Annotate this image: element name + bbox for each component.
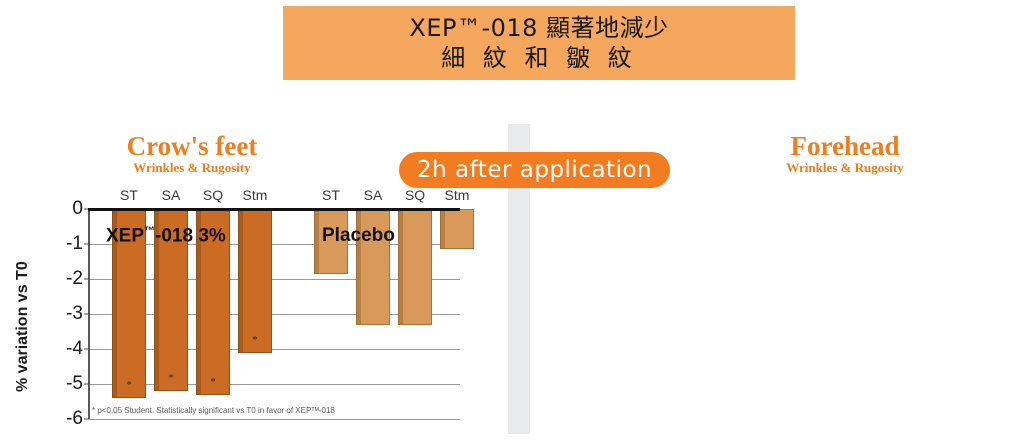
chart-subtitle: Wrinkles & Rugosity — [0, 160, 446, 176]
group-label-stm: Stm — [243, 187, 268, 203]
significance-marker: * — [168, 374, 174, 383]
plot-area-crows-feet: 0-1-2-3-4-5-6*ST*SA*SQ*StmSTSASQStmXEP™-… — [88, 209, 460, 419]
series-caption-placebo: Placebo — [322, 225, 395, 247]
bar-body — [238, 209, 272, 353]
zero-axis-line — [88, 208, 460, 211]
title-line-1: XEP™-018 顯著地減少 — [409, 13, 668, 43]
series-caption-xep: XEP™-018 3% — [106, 225, 226, 247]
bar-crows-feet-placebo-sq — [398, 209, 432, 325]
y-tick-mark — [84, 314, 90, 315]
y-tick-label: -4 — [66, 338, 83, 360]
y-tick-label: -2 — [66, 268, 83, 290]
y-tick-mark — [84, 419, 90, 420]
y-tick-label: 0 — [72, 198, 83, 220]
significance-marker: * — [210, 378, 216, 387]
y-axis-label-crows-feet: % variation vs T0 — [14, 261, 32, 392]
y-tick-mark — [84, 279, 90, 280]
y-tick-label: -5 — [66, 373, 83, 395]
bar-crows-feet-xep-stm: * — [238, 209, 272, 353]
bar-shadow-edge — [440, 209, 445, 249]
bar-shadow-edge — [238, 209, 243, 353]
bar-shadow-edge — [398, 209, 403, 325]
group-label-sa: SA — [162, 187, 181, 203]
bar-body — [440, 209, 474, 249]
significance-marker: * — [126, 381, 132, 390]
chart-heading-crows-feet: Crow's feet Wrinkles & Rugosity — [0, 132, 446, 176]
title-line-2: 細 紋 和 皺 紋 — [441, 43, 637, 73]
y-tick-label: -1 — [66, 233, 83, 255]
group-label-sq: SQ — [405, 187, 425, 203]
chart-region-title: Crow's feet — [0, 132, 446, 160]
y-tick-mark — [84, 244, 90, 245]
gridline — [90, 419, 460, 420]
y-tick-mark — [84, 384, 90, 385]
significance-marker: * — [252, 336, 258, 345]
group-label-sq: SQ — [203, 187, 223, 203]
group-label-sa: SA — [364, 187, 383, 203]
title-banner: XEP™-018 顯著地減少 細 紋 和 皺 紋 — [283, 6, 795, 80]
footnotes-crows-feet: * p<0.05 Student. Statistically signific… — [92, 405, 335, 416]
time-badge: 2h after application — [399, 152, 670, 188]
footnote-line: * p<0.05 Student. Statistically signific… — [92, 405, 335, 416]
group-label-st: ST — [120, 187, 138, 203]
bar-shadow-edge — [314, 209, 319, 274]
y-tick-mark — [84, 349, 90, 350]
group-label-st: ST — [322, 187, 340, 203]
bar-crows-feet-placebo-stm — [440, 209, 474, 249]
y-tick-label: -6 — [66, 408, 83, 430]
group-label-stm: Stm — [445, 187, 470, 203]
y-tick-label: -3 — [66, 303, 83, 325]
bar-body — [398, 209, 432, 325]
